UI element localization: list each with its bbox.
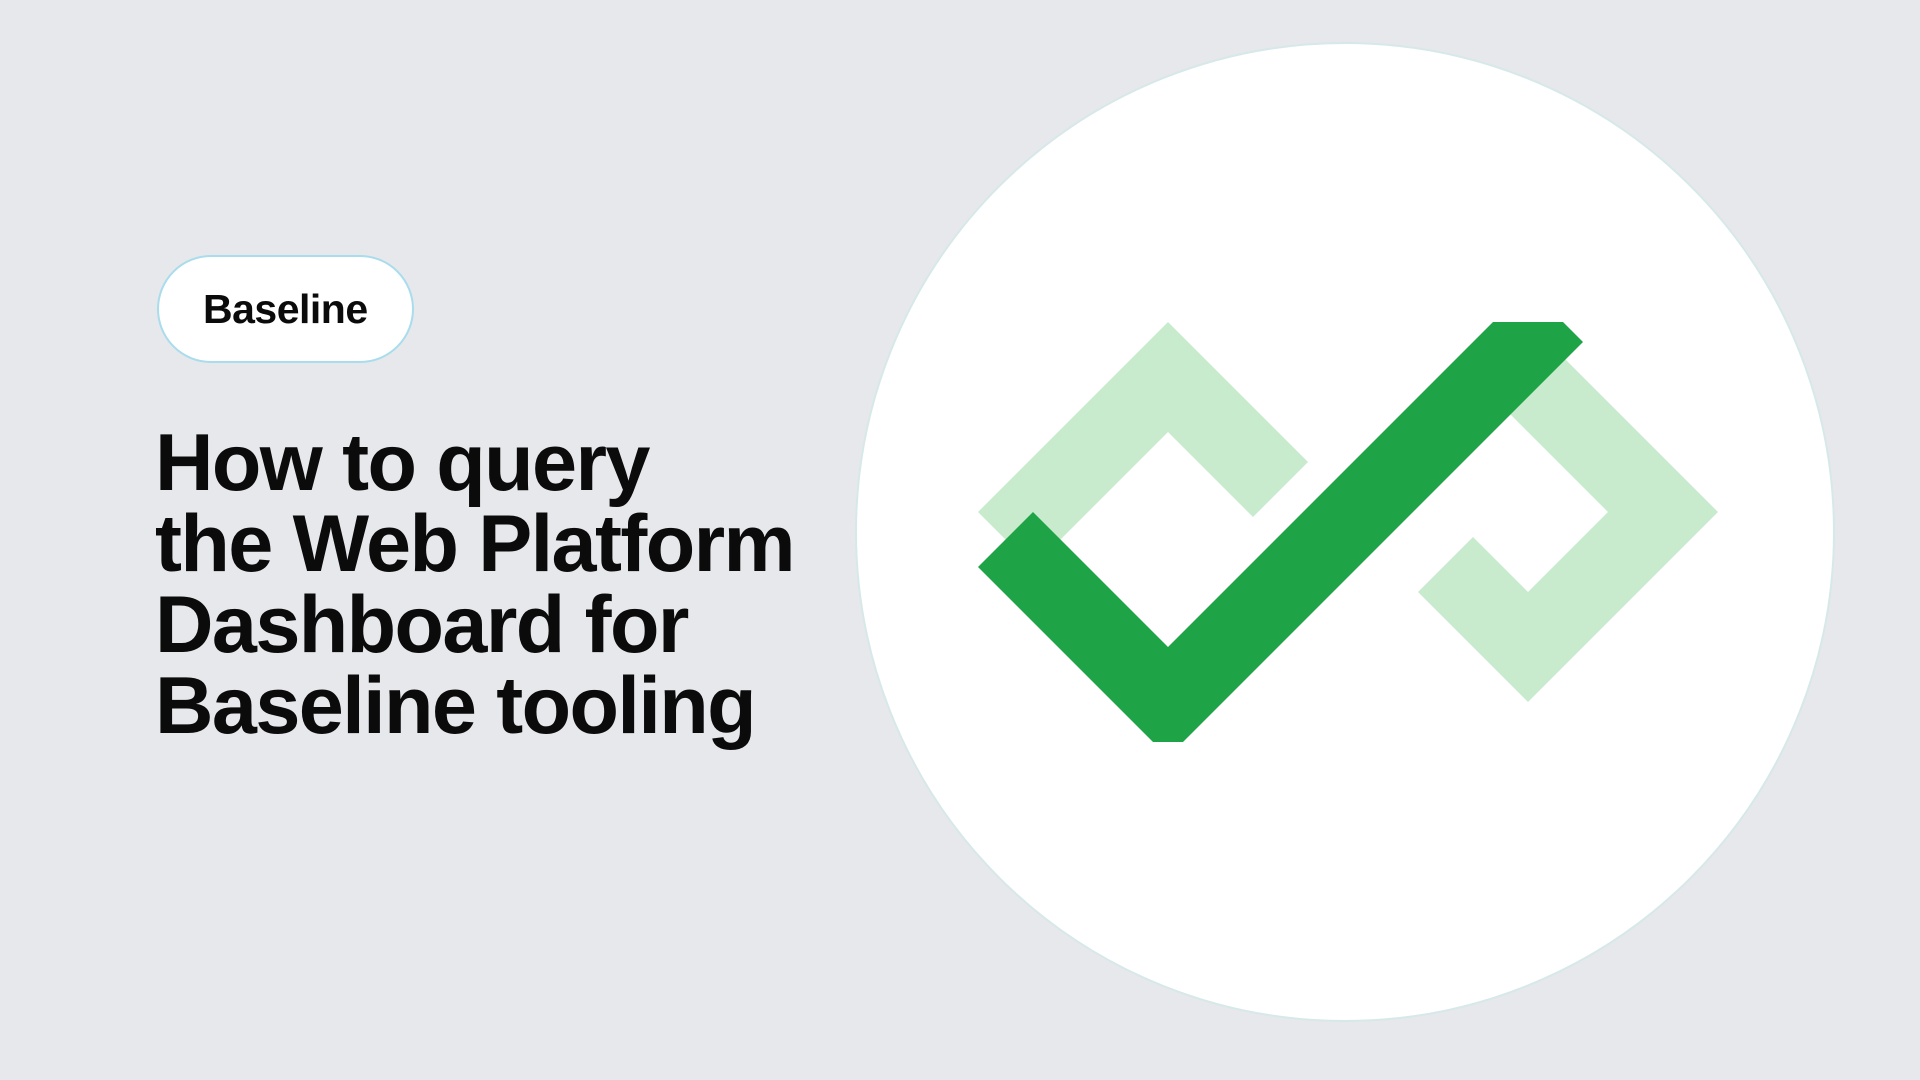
status-badge-label: Baseline bbox=[203, 289, 368, 330]
logo-circle bbox=[855, 42, 1835, 1022]
social-card: Baseline How to query the Web Platform D… bbox=[0, 0, 1920, 1080]
page-title: How to query the Web Platform Dashboard … bbox=[155, 423, 855, 747]
baseline-logo-check bbox=[978, 322, 1583, 742]
content-column: Baseline How to query the Web Platform D… bbox=[155, 255, 855, 747]
status-badge: Baseline bbox=[157, 255, 414, 363]
baseline-logo-icon bbox=[978, 322, 1718, 742]
